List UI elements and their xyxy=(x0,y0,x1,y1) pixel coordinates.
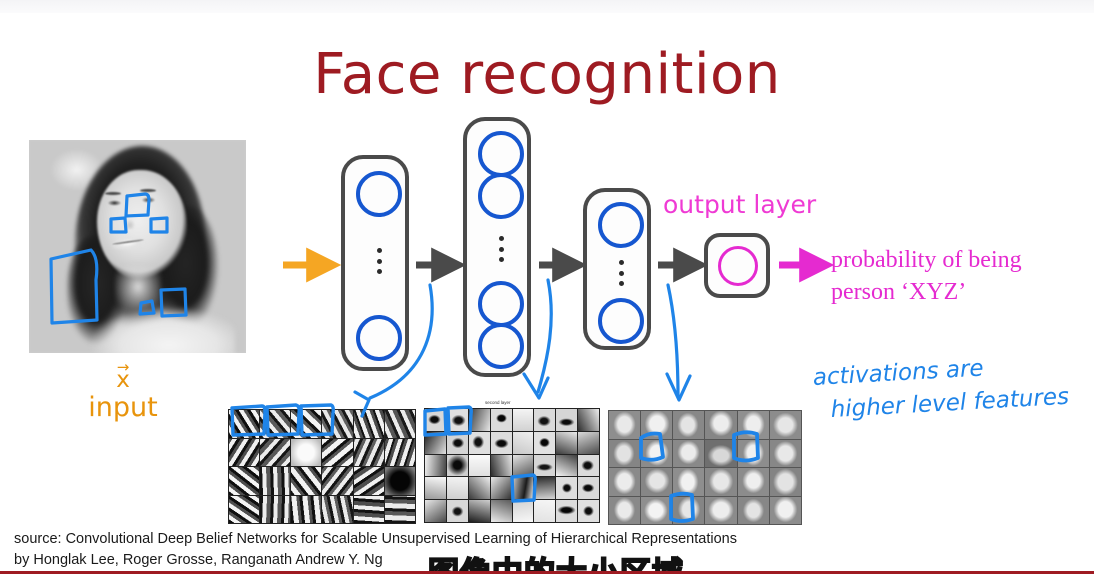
layer-3-ellipsis xyxy=(616,260,626,286)
layer-1-node-2 xyxy=(356,315,402,361)
input-photo xyxy=(29,140,246,353)
blue-arrowhead-grid3 xyxy=(667,374,690,400)
network-layer-2 xyxy=(463,117,531,377)
output-result-text: probability of being person ‘XYZ’ xyxy=(831,245,1093,308)
blue-arrow-layer3-to-grid3 xyxy=(668,285,678,396)
output-result-line2: person ‘XYZ’ xyxy=(831,279,966,305)
second-layer-grid-caption: second layer xyxy=(485,400,511,405)
layer-2-node-4 xyxy=(478,323,524,369)
layer-2-ellipsis xyxy=(496,236,506,262)
input-vector-symbol: → x xyxy=(0,363,246,392)
layer-2-node-2 xyxy=(478,173,524,219)
blue-arrow-layer2-to-grid2 xyxy=(538,280,551,392)
photo-annotation-overlay xyxy=(29,140,246,353)
output-result-line1: probability of being xyxy=(831,247,1022,273)
third-layer-feature-grid xyxy=(608,410,802,525)
blue-arrowhead-grid2 xyxy=(524,374,548,398)
annotation-box-large-region xyxy=(51,250,97,323)
vector-x-letter: x xyxy=(116,367,130,393)
source-line-1: source: Convolutional Deep Belief Networ… xyxy=(14,531,737,547)
layer-3-node-2 xyxy=(598,298,644,344)
network-output-layer-box xyxy=(704,233,770,298)
output-node xyxy=(718,246,758,286)
layer-2-node-1 xyxy=(478,131,524,177)
network-layer-3 xyxy=(583,188,651,350)
annotation-box-shoulder xyxy=(161,289,186,316)
layer-2-node-3 xyxy=(478,281,524,327)
handwriting-line-1: activations are xyxy=(812,355,984,390)
first-layer-feature-grid xyxy=(228,409,416,524)
page-title: Face recognition xyxy=(0,42,1094,107)
annotation-box-hair-small xyxy=(151,218,167,232)
second-layer-feature-grid xyxy=(424,408,600,523)
output-layer-label: output layer xyxy=(663,190,816,219)
slide-canvas: Face recognition xyxy=(0,0,1094,574)
top-band xyxy=(0,0,1094,13)
handwritten-annotation: activations are higher level features xyxy=(812,346,1094,428)
annotation-box-tiny xyxy=(140,301,154,314)
source-line-2: by Honglak Lee, Roger Grosse, Ranganath … xyxy=(14,552,383,568)
network-layer-1 xyxy=(341,155,409,371)
layer-1-node-1 xyxy=(356,171,402,217)
layer-1-ellipsis xyxy=(374,248,384,274)
annotation-box-eye xyxy=(126,194,149,216)
layer-3-node-1 xyxy=(598,202,644,248)
input-label: input xyxy=(0,392,246,423)
annotation-box-cheek xyxy=(111,218,126,232)
